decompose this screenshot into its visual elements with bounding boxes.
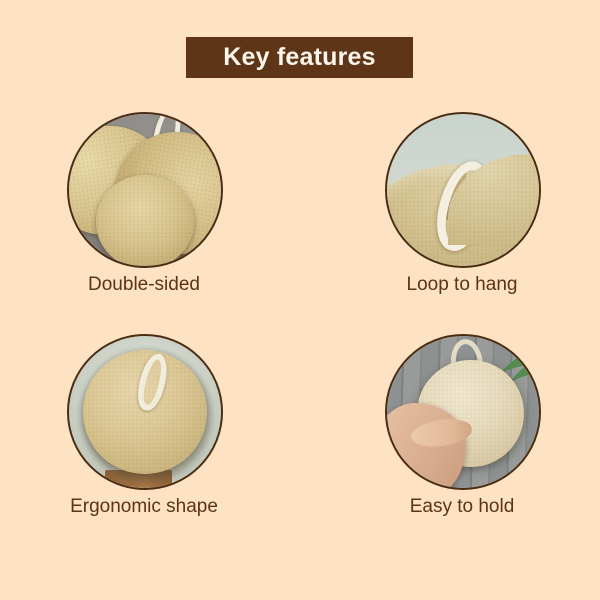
feature-caption-loop-to-hang: Loop to hang	[312, 273, 600, 297]
ergonomic-round-pad-photo	[67, 334, 223, 490]
double-sided-loofah-pads-photo	[67, 112, 223, 268]
key-features-banner: Key features	[186, 37, 413, 78]
hand-holding-loofah-photo	[385, 334, 541, 490]
photo-inner	[387, 336, 539, 488]
key-features-infographic: Key features	[0, 0, 600, 600]
loofah-pad-front	[96, 175, 193, 266]
feature-cell-ergonomic-shape: Ergonomic shape	[0, 332, 300, 562]
feature-cell-easy-to-hold: Easy to hold	[300, 332, 600, 562]
feature-grid: Double-sided	[0, 110, 600, 570]
feature-cell-double-sided: Double-sided	[0, 110, 300, 340]
photo-inner	[387, 114, 539, 266]
hanging-loop-closeup-photo	[385, 112, 541, 268]
feature-thumbnail-wrap	[385, 112, 541, 268]
loofah-texture	[96, 175, 193, 266]
photo-inner	[69, 336, 221, 488]
feature-cell-loop-to-hang: Loop to hang	[300, 110, 600, 340]
feature-thumbnail-wrap	[67, 112, 223, 268]
page-title: Key features	[223, 45, 375, 70]
feature-caption-easy-to-hold: Easy to hold	[312, 495, 600, 519]
photo-inner	[69, 114, 221, 266]
feature-caption-double-sided: Double-sided	[0, 273, 294, 297]
feature-thumbnail-wrap	[385, 334, 541, 490]
feature-caption-ergonomic-shape: Ergonomic shape	[0, 495, 294, 519]
feature-thumbnail-wrap	[67, 334, 223, 490]
